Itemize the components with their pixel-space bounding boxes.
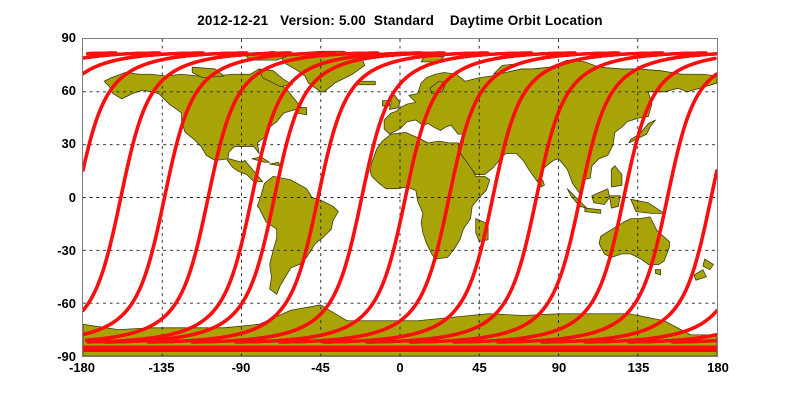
x-tick--180: -180	[47, 360, 117, 375]
x-tick-90: 90	[524, 360, 594, 375]
orbit-ground-tracks	[83, 39, 717, 356]
map-plot-area	[82, 38, 718, 357]
orbit-track-w7-seg1	[410, 54, 716, 342]
orbit-location-figure: 2012-12-21 Version: 5.00 Standard Daytim…	[0, 0, 800, 400]
x-tick-135: 135	[604, 360, 674, 375]
map-clip	[83, 39, 717, 356]
orbit-track-14	[88, 53, 422, 342]
x-tick--90: -90	[206, 360, 276, 375]
figure-title: 2012-12-21 Version: 5.00 Standard Daytim…	[0, 13, 800, 28]
y-axis-tick-labels: 9060300-30-60-90	[36, 0, 76, 400]
y-tick-90: 90	[42, 30, 76, 45]
orbit-track-w14	[88, 53, 422, 342]
orbit-track-w11	[83, 53, 290, 310]
x-tick--45: -45	[286, 360, 356, 375]
y-tick--30: -30	[42, 243, 76, 258]
orbit-track-e14	[88, 53, 422, 342]
x-axis-tick-labels: -180-135-90-4504590135180	[82, 360, 718, 380]
y-tick-30: 30	[42, 136, 76, 151]
orbit-track-e9-seg1	[498, 74, 716, 342]
orbit-track-11	[83, 53, 290, 310]
y-tick-60: 60	[42, 83, 76, 98]
y-tick--60: -60	[42, 296, 76, 311]
x-tick-45: 45	[445, 360, 515, 375]
orbit-track-e11	[83, 53, 290, 310]
orbit-track-w9-seg1	[498, 74, 716, 342]
orbit-track-e7-seg1	[410, 54, 716, 342]
orbit-track-e13-seg1	[673, 341, 716, 342]
x-tick-180: 180	[683, 360, 753, 375]
x-tick-0: 0	[365, 360, 435, 375]
x-tick--135: -135	[127, 360, 197, 375]
y-tick-0: 0	[42, 190, 76, 205]
orbit-track-7-seg1	[410, 54, 716, 342]
orbit-track-9-seg1	[498, 74, 716, 342]
